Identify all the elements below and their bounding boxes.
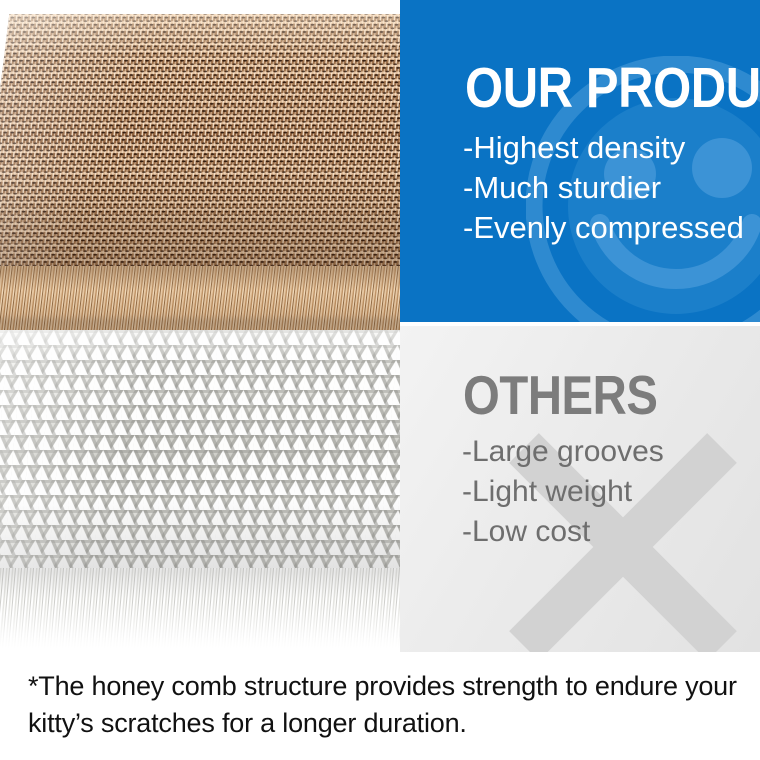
others-bullet: -Light weight — [462, 472, 664, 512]
our-product-heading: OUR PRODUCT — [465, 58, 760, 118]
our-product-bullet: -Highest density — [463, 128, 744, 168]
footer-caption-text: *The honey comb structure provides stren… — [28, 668, 740, 742]
our-product-bullet: -Much sturdier — [463, 168, 744, 208]
others-heading: OTHERS — [463, 366, 658, 424]
others-bullet-list: -Large grooves -Light weight -Low cost — [462, 432, 664, 552]
others-bullet: -Low cost — [462, 512, 664, 552]
our-product-bullet-list: -Highest density -Much sturdier -Evenly … — [463, 128, 744, 248]
our-product-bullet: -Evenly compressed — [463, 208, 744, 248]
others-bullet: -Large grooves — [462, 432, 664, 472]
footer-caption-band: *The honey comb structure provides stren… — [0, 652, 760, 760]
infographic-root: OUR PRODUCT -Highest density -Much sturd… — [0, 0, 760, 760]
